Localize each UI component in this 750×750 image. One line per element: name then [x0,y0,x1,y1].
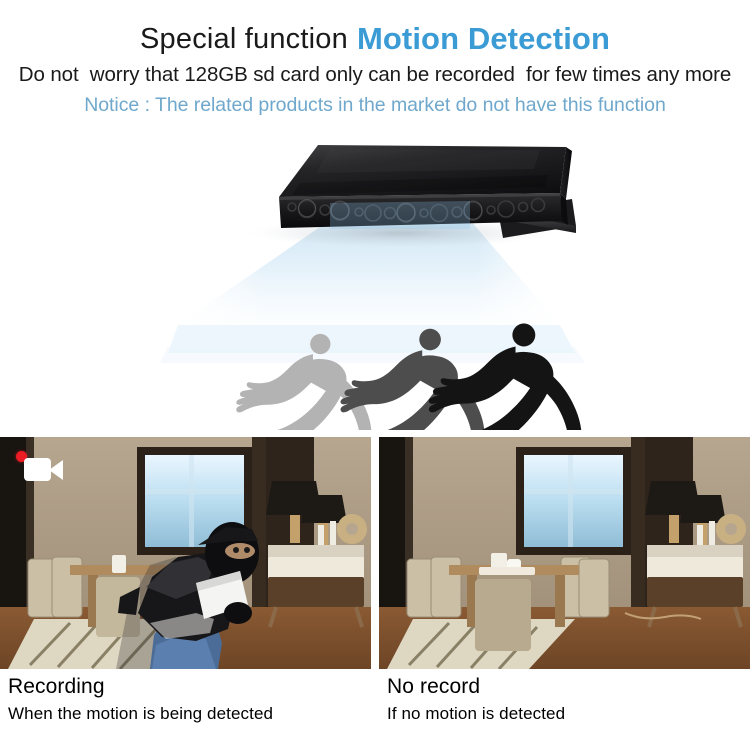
header: Special functionMotion Detection Do not … [0,0,750,125]
caption-title: No record [387,673,747,700]
caption-no-record: No record If no motion is detected [387,673,747,726]
hero-illustration [0,125,750,430]
caption-subtitle: When the motion is being detected [8,702,368,726]
panel-recording: Recording When the motion is being detec… [0,437,371,750]
video-camera-icon [24,458,64,481]
photo-no-record [379,437,750,669]
caption-title: Recording [8,673,368,700]
caption-recording: Recording When the motion is being detec… [8,673,368,726]
page-title: Special functionMotion Detection [0,22,750,56]
panel-no-record: No record If no motion is detected [379,437,750,750]
notice-text: Notice : The related products in the mar… [0,92,750,118]
recording-indicator [16,451,64,481]
hidden-camera-device [279,145,576,238]
photo-recording [0,437,371,669]
product-feature-infographic: Special functionMotion Detection Do not … [0,0,750,750]
title-plain-text: Special function [140,23,348,55]
photo-no-record-svg [379,437,750,669]
comparison-panels: Recording When the motion is being detec… [0,437,750,750]
hero-svg [0,125,750,430]
subtitle-text: Do not worry that 128GB sd card only can… [0,62,750,88]
title-accent-text: Motion Detection [357,21,610,56]
caption-subtitle: If no motion is detected [387,702,747,726]
